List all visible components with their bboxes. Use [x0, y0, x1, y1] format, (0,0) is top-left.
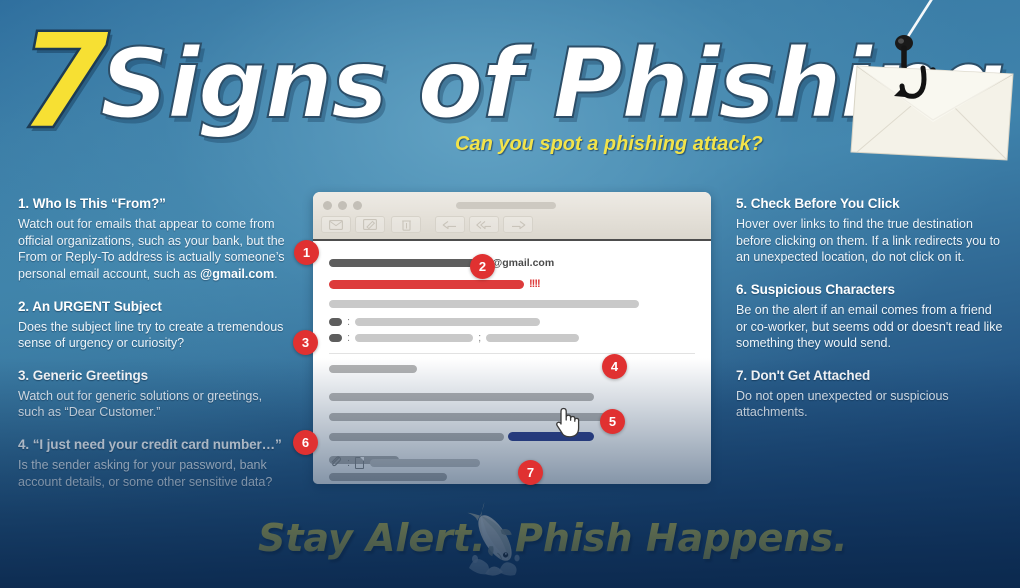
signoff-redacted-bar-2 — [329, 473, 447, 481]
title-number: 7 — [18, 18, 106, 147]
signoff-line-2 — [329, 473, 695, 481]
tip-6-body: Be on the alert if an email comes from a… — [736, 302, 1006, 352]
window-maximize-dot[interactable] — [353, 201, 362, 210]
poster-header: 7 Signs of Phishing Can you spot a phish… — [0, 0, 1020, 180]
body-line-2 — [329, 413, 695, 421]
window-minimize-dot[interactable] — [338, 201, 347, 210]
tip-3-body: Watch out for generic solutions or greet… — [18, 388, 288, 421]
toolbar-group-delete — [391, 216, 421, 233]
body-redacted-bar-3 — [329, 433, 504, 441]
forward-icon[interactable] — [503, 216, 533, 233]
attachment-row[interactable]: : — [329, 455, 480, 471]
email-body: @gmail.com !!!! : : ; — [313, 241, 711, 484]
to-field-row: : — [329, 318, 695, 326]
window-traffic-lights — [323, 201, 362, 210]
cc-separator: ; — [478, 334, 481, 342]
toolbar-group-reply — [435, 216, 533, 233]
paperclip-icon — [329, 455, 342, 471]
window-titlebar — [313, 192, 711, 241]
cc-field-row: : ; — [329, 334, 695, 342]
infographic-poster: 7 Signs of Phishing Can you spot a phish… — [0, 0, 1020, 588]
file-icon — [355, 457, 364, 469]
to-value-redacted-bar — [355, 318, 540, 326]
compose-icon[interactable] — [355, 216, 385, 233]
tip-2-heading: 2. An URGENT Subject — [18, 299, 288, 314]
marker-1[interactable]: 1 — [294, 240, 319, 265]
marker-4[interactable]: 4 — [602, 354, 627, 379]
attachment-name-redacted-bar — [370, 459, 480, 467]
tips-column-right: 5. Check Before You Click Hover over lin… — [736, 196, 1006, 437]
recipient-summary-line — [329, 300, 695, 308]
urgent-subject-line: !!!! — [329, 278, 695, 290]
marker-5[interactable]: 5 — [600, 409, 625, 434]
tip-1-body-bold: @gmail.com — [200, 267, 274, 281]
recipient-redacted-bar — [329, 300, 639, 308]
tip-4-heading: 4. “I just need your credit card number…… — [18, 437, 288, 452]
attachment-colon: : — [347, 459, 350, 467]
subject-redacted-bar — [329, 280, 524, 289]
tagline-right: Phish Happens. — [515, 516, 848, 560]
tip-7: 7. Don't Get Attached Do not open unexpe… — [736, 368, 1006, 421]
tip-5-heading: 5. Check Before You Click — [736, 196, 1006, 211]
urgency-exclamation-marks: !!!! — [529, 278, 540, 290]
tip-4: 4. “I just need your credit card number…… — [18, 437, 288, 490]
cc-colon: : — [347, 334, 350, 342]
marker-7[interactable]: 7 — [518, 460, 543, 485]
tip-6-heading: 6. Suspicious Characters — [736, 282, 1006, 297]
poster-footer: Stay Alert. — [0, 502, 1020, 578]
link-line — [329, 432, 695, 441]
tip-5-body: Hover over links to find the true destin… — [736, 216, 1006, 266]
window-title-placeholder — [456, 202, 556, 209]
reply-icon[interactable] — [435, 216, 465, 233]
poster-subtitle: Can you spot a phishing attack? — [455, 133, 763, 156]
tip-1: 1. Who Is This “From?” Watch out for ema… — [18, 196, 288, 283]
email-client-mockup: @gmail.com !!!! : : ; — [313, 192, 711, 484]
tip-4-body: Is the sender asking for your password, … — [18, 457, 288, 490]
body-redacted-bar-1 — [329, 393, 594, 401]
to-label-redacted — [329, 318, 342, 326]
cc-label-redacted — [329, 334, 342, 342]
tagline-left: Stay Alert. — [258, 516, 486, 560]
pointing-hand-cursor — [552, 404, 582, 445]
envelope-icon[interactable] — [321, 216, 351, 233]
tip-3: 3. Generic Greetings Watch out for gener… — [18, 368, 288, 421]
marker-6[interactable]: 6 — [293, 430, 318, 455]
generic-greeting-line — [329, 365, 695, 373]
tip-6: 6. Suspicious Characters Be on the alert… — [736, 282, 1006, 352]
tips-column-left: 1. Who Is This “From?” Watch out for ema… — [18, 196, 288, 506]
marker-2[interactable]: 2 — [470, 254, 495, 279]
cc-value-redacted-bar-1 — [355, 334, 473, 342]
tip-2: 2. An URGENT Subject Does the subject li… — [18, 299, 288, 352]
tip-2-body: Does the subject line try to create a tr… — [18, 319, 288, 352]
sender-address-redacted-bar — [329, 259, 487, 267]
tip-1-body: Watch out for emails that appear to come… — [18, 216, 288, 283]
hook-and-envelope-graphic — [845, 0, 1020, 166]
tip-7-body: Do not open unexpected or suspicious att… — [736, 388, 1006, 421]
tip-7-heading: 7. Don't Get Attached — [736, 368, 1006, 383]
tip-1-heading: 1. Who Is This “From?” — [18, 196, 288, 211]
delete-icon[interactable] — [391, 216, 421, 233]
window-close-dot[interactable] — [323, 201, 332, 210]
to-colon: : — [347, 318, 350, 326]
tip-3-heading: 3. Generic Greetings — [18, 368, 288, 383]
from-address-line: @gmail.com — [329, 257, 695, 269]
toolbar-group-mail — [321, 216, 385, 233]
sender-domain-text: @gmail.com — [492, 257, 554, 269]
reply-all-icon[interactable] — [469, 216, 499, 233]
tip-1-body-after: . — [274, 267, 277, 281]
header-body-divider — [329, 353, 695, 354]
greeting-redacted-bar — [329, 365, 417, 373]
marker-3[interactable]: 3 — [293, 330, 318, 355]
tip-5: 5. Check Before You Click Hover over lin… — [736, 196, 1006, 266]
credit-card-request-line — [329, 393, 695, 401]
cc-value-redacted-bar-2 — [486, 334, 579, 342]
